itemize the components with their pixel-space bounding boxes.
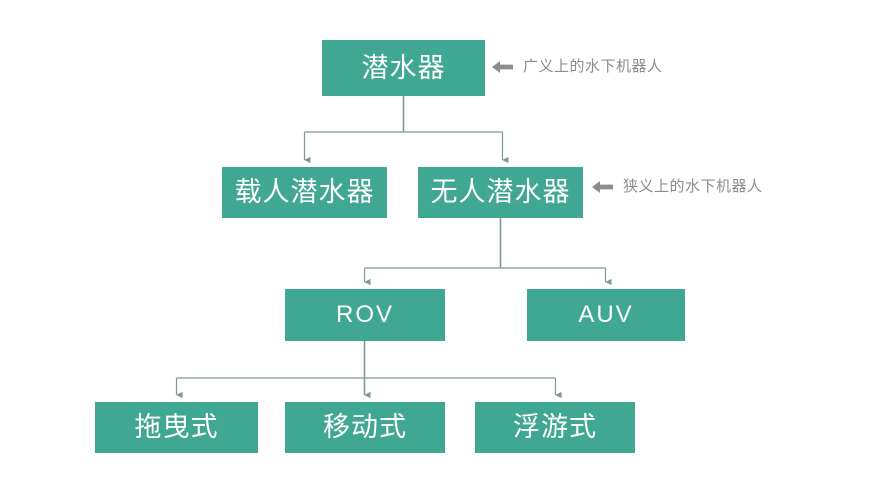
edge-top-to-level2 (305, 96, 503, 160)
node-floating-type[interactable]: 浮游式 (475, 402, 635, 453)
arrow-left-icon (492, 60, 514, 74)
node-submersible[interactable]: 潜水器 (322, 40, 485, 96)
annotation-broad: 广义上的水下机器人 (492, 59, 663, 74)
node-towed-type[interactable]: 拖曳式 (95, 402, 258, 453)
arrow-left-icon (592, 180, 614, 194)
edge-unmanned-to-level3 (365, 218, 606, 282)
node-rov[interactable]: ROV (285, 289, 445, 341)
annotation-narrow-label: 狭义上的水下机器人 (623, 179, 763, 194)
node-mobile-type[interactable]: 移动式 (285, 402, 445, 453)
node-manned-submersible[interactable]: 载人潜水器 (222, 167, 387, 218)
annotation-narrow: 狭义上的水下机器人 (592, 179, 763, 194)
diagram-canvas: 潜水器 载人潜水器 无人潜水器 ROV AUV 拖曳式 移动式 浮游式 广义上的… (0, 0, 887, 500)
annotation-broad-label: 广义上的水下机器人 (523, 59, 663, 74)
node-unmanned-submersible[interactable]: 无人潜水器 (418, 167, 583, 218)
node-auv[interactable]: AUV (527, 289, 685, 341)
edge-rov-to-level4 (177, 341, 556, 395)
